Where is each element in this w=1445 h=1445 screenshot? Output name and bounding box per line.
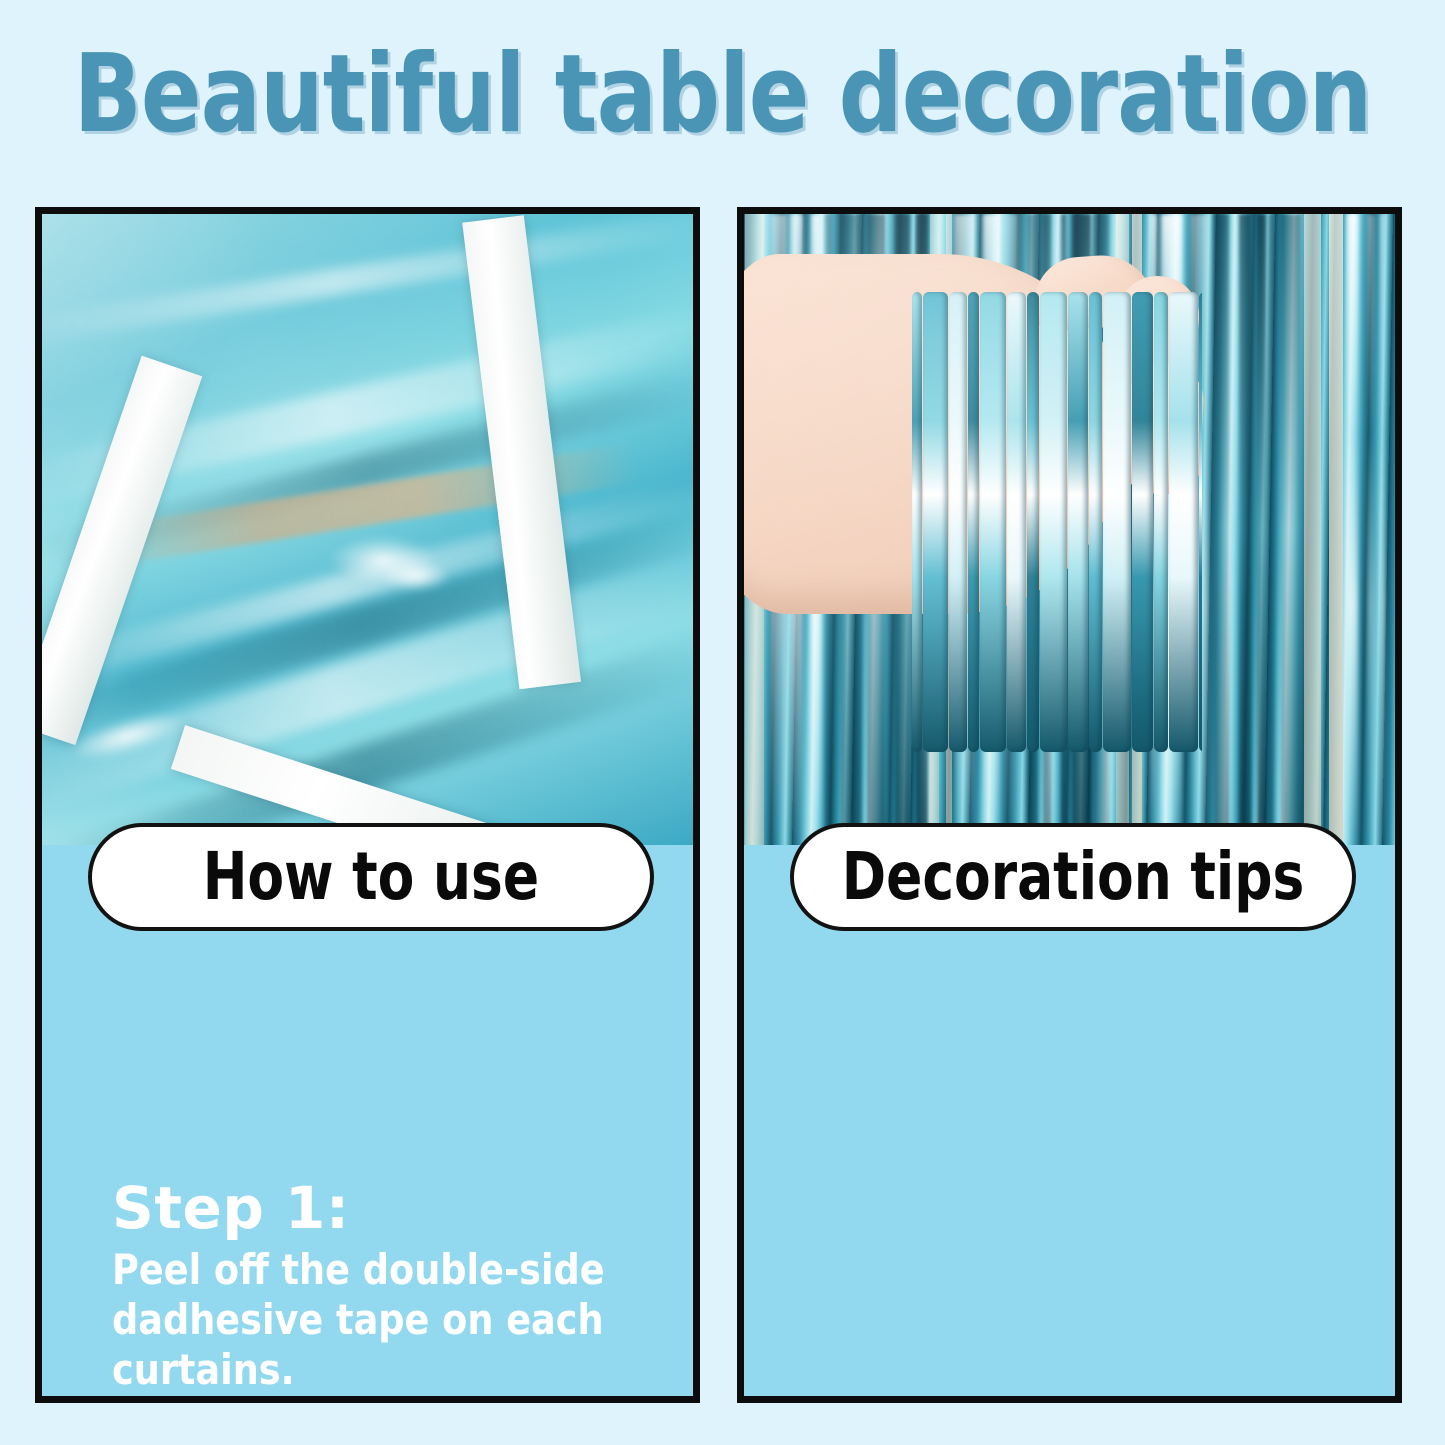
decoration-tips-badge: Decoration tips	[790, 823, 1356, 931]
decoration-tips-photo	[744, 214, 1395, 845]
step-item: Step 1: Peel off the double-side dadhesi…	[112, 1177, 700, 1395]
decoration-tips-panel: Use your own tape or pins if you'd like …	[737, 207, 1402, 1403]
how-to-use-badge-label: How to use	[203, 844, 539, 910]
how-to-use-badge: How to use	[88, 823, 654, 931]
how-to-use-photo	[42, 214, 693, 845]
step-heading: Step 1:	[112, 1177, 700, 1239]
how-to-use-panel: Step 1: Peel off the double-side dadhesi…	[35, 207, 700, 1403]
held-foil-clump	[912, 292, 1202, 752]
foil-sheet-image	[42, 214, 693, 845]
page-title: Beautiful table decoration	[58, 36, 1387, 154]
steps-list: Step 1: Peel off the double-side dadhesi…	[112, 1177, 700, 1403]
step-description: Peel off the double-side dadhesive tape …	[112, 1245, 700, 1395]
fringe-curtain-image	[744, 214, 1395, 845]
decoration-tips-badge-label: Decoration tips	[842, 844, 1305, 910]
